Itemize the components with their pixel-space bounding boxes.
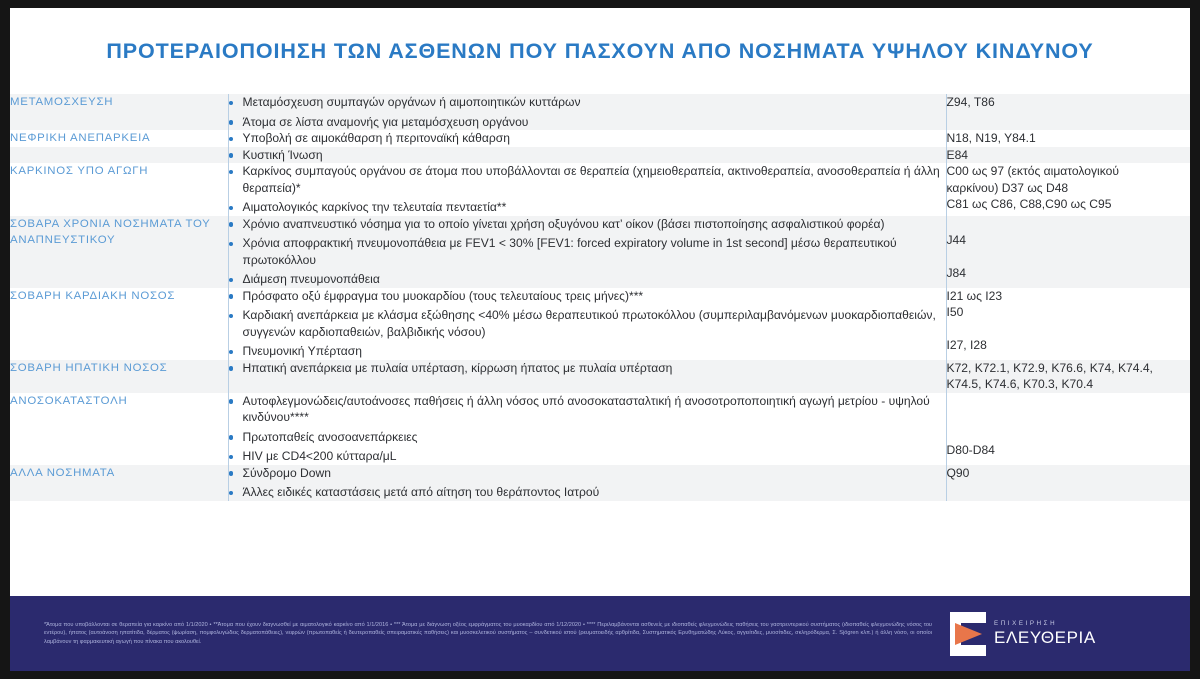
bullet-item: Υποβολή σε αιμοκάθαρση ή περιτοναϊκή κάθ… — [229, 130, 946, 147]
category-cell: ΑΛΛΑ ΝΟΣΗΜΑΤΑ — [10, 465, 228, 501]
bullet-list: Χρόνιο αναπνευστικό νόσημα για το οποίο … — [229, 216, 946, 288]
page-title: ΠΡΟΤΕΡΑΙΟΠΟΙΗΣΗ ΤΩΝ ΑΣΘΕΝΩΝ ΠΟΥ ΠΑΣΧΟΥΝ … — [106, 39, 1093, 64]
category-label: ΣΟΒΑΡΑ ΧΡΟΝΙΑ ΝΟΣΗΜΑΤΑ ΤΟΥ ΑΝΑΠΝΕΥΣΤΙΚΟΥ — [10, 216, 228, 248]
high-risk-disease-table: ΜΕΤΑΜΟΣΧΕΥΣΗΜεταμόσχευση συμπαγών οργάνω… — [10, 94, 1190, 501]
bullet-item: HIV με CD4<200 κύτταρα/μL — [229, 448, 946, 465]
bullet-item: Μεταμόσχευση συμπαγών οργάνων ή αιμοποιη… — [229, 94, 946, 111]
bullet-list: Πρόσφατο οξύ έμφραγμα του μυοκαρδίου (το… — [229, 288, 946, 360]
category-label: ΝΕΦΡΙΚΗ ΑΝΕΠΑΡΚΕΙΑ — [10, 130, 228, 146]
description-cell: Ηπατική ανεπάρκεια με πυλαία υπέρταση, κ… — [228, 360, 946, 393]
icd-code-line — [947, 393, 1191, 410]
category-label: ΑΛΛΑ ΝΟΣΗΜΑΤΑ — [10, 465, 228, 481]
bullet-list: Καρκίνος συμπαγούς οργάνου σε άτομα που … — [229, 163, 946, 216]
icd-code-line: I21 ως I23 — [947, 288, 1191, 305]
table-row: ΣΟΒΑΡΗ ΗΠΑΤΙΚΗ ΝΟΣΟΣΗπατική ανεπάρκεια μ… — [10, 360, 1190, 393]
category-label: ΣΟΒΑΡΗ ΚΑΡΔΙΑΚΗ ΝΟΣΟΣ — [10, 288, 228, 304]
description-cell: Μεταμόσχευση συμπαγών οργάνων ή αιμοποιη… — [228, 94, 946, 130]
footer-bar: *Άτομα που υποβάλλονται σε θεραπεία για … — [10, 596, 1190, 671]
title-bar: ΠΡΟΤΕΡΑΙΟΠΟΙΗΣΗ ΤΩΝ ΑΣΘΕΝΩΝ ΠΟΥ ΠΑΣΧΟΥΝ … — [10, 8, 1190, 94]
icd-code-line: J44 — [947, 232, 1191, 249]
category-cell: ΝΕΦΡΙΚΗ ΑΝΕΠΑΡΚΕΙΑ — [10, 130, 228, 147]
icd-code-line: I27, I28 — [947, 337, 1191, 354]
table-row: ΑΛΛΑ ΝΟΣΗΜΑΤΑΣύνδρομο DownΆλλες ειδικές … — [10, 465, 1190, 501]
footnotes-paragraph: *Άτομα που υποβάλλονται σε θεραπεία για … — [44, 621, 932, 647]
bullet-item: Καρκίνος συμπαγούς οργάνου σε άτομα που … — [229, 163, 946, 196]
icd-code-line: D80-D84 — [947, 442, 1191, 459]
bullet-list: Ηπατική ανεπάρκεια με πυλαία υπέρταση, κ… — [229, 360, 946, 377]
logo: ΕΠΙΧΕΙΡΗΣΗ ΕΛΕΥΘΕΡΙΑ — [950, 612, 1190, 656]
logo-text: ΕΠΙΧΕΙΡΗΣΗ ΕΛΕΥΘΕΡΙΑ — [994, 621, 1096, 645]
bullet-item: Κυστική Ίνωση — [229, 147, 946, 164]
table-row: ΣΟΒΑΡΑ ΧΡΟΝΙΑ ΝΟΣΗΜΑΤΑ ΤΟΥ ΑΝΑΠΝΕΥΣΤΙΚΟΥ… — [10, 216, 1190, 288]
category-cell: ΚΑΡΚΙΝΟΣ ΥΠΟ ΑΓΩΓΗ — [10, 163, 228, 216]
logo-tagline: ΕΠΙΧΕΙΡΗΣΗ — [994, 621, 1096, 627]
category-cell: ΣΟΒΑΡΗ ΚΑΡΔΙΑΚΗ ΝΟΣΟΣ — [10, 288, 228, 360]
icd-code-cell: Q90 — [946, 465, 1190, 501]
icd-code-cell: C00 ως 97 (εκτός αιματολογικούκαρκίνου) … — [946, 163, 1190, 216]
table-body: ΜΕΤΑΜΟΣΧΕΥΣΗΜεταμόσχευση συμπαγών οργάνω… — [10, 94, 1190, 501]
slide-frame: ΠΡΟΤΕΡΑΙΟΠΟΙΗΣΗ ΤΩΝ ΑΣΘΕΝΩΝ ΠΟΥ ΠΑΣΧΟΥΝ … — [0, 0, 1200, 679]
logo-play-arrow-icon — [955, 623, 982, 645]
logo-bottom-bar-shape — [961, 645, 986, 656]
description-cell: Αυτοφλεγμονώδεις/αυτοάνοσες παθήσεις ή ά… — [228, 393, 946, 465]
description-cell: Κυστική Ίνωση — [228, 147, 946, 164]
bullet-item: Άλλες ειδικές καταστάσεις μετά από αίτησ… — [229, 484, 946, 501]
icd-code-line — [947, 409, 1191, 426]
bullet-list: Υποβολή σε αιμοκάθαρση ή περιτοναϊκή κάθ… — [229, 130, 946, 147]
icd-code-cell: Z94, T86 — [946, 94, 1190, 130]
icd-code-line: Q90 — [947, 465, 1191, 482]
table-row: ΜΕΤΑΜΟΣΧΕΥΣΗΜεταμόσχευση συμπαγών οργάνω… — [10, 94, 1190, 130]
category-label: ΣΟΒΑΡΗ ΗΠΑΤΙΚΗ ΝΟΣΟΣ — [10, 360, 228, 376]
logo-brand-name: ΕΛΕΥΘΕΡΙΑ — [994, 629, 1096, 646]
icd-code-line: Z94, T86 — [947, 94, 1191, 111]
bullet-item: Χρόνια αποφρακτική πνευμονοπάθεια με FEV… — [229, 235, 946, 268]
table-row: ΚΑΡΚΙΝΟΣ ΥΠΟ ΑΓΩΓΗΚαρκίνος συμπαγούς οργ… — [10, 163, 1190, 216]
bullet-item: Διάμεση πνευμονοπάθεια — [229, 271, 946, 288]
category-cell: ΑΝΟΣΟΚΑΤΑΣΤΟΛΗ — [10, 393, 228, 465]
category-cell — [10, 147, 228, 164]
icd-code-line — [947, 426, 1191, 443]
icd-code-line — [947, 216, 1191, 233]
icd-code-line: K74.5, K74.6, K70.3, K70.4 — [947, 376, 1191, 393]
description-cell: Σύνδρομο DownΆλλες ειδικές καταστάσεις μ… — [228, 465, 946, 501]
description-cell: Υποβολή σε αιμοκάθαρση ή περιτοναϊκή κάθ… — [228, 130, 946, 147]
bullet-list: Κυστική Ίνωση — [229, 147, 946, 164]
bullet-item: Καρδιακή ανεπάρκεια με κλάσμα εξώθησης <… — [229, 307, 946, 340]
icd-code-cell: N18, N19, Y84.1 — [946, 130, 1190, 147]
logo-top-bar-shape — [961, 612, 986, 623]
icd-code-cell: J44J84 — [946, 216, 1190, 288]
icd-code-line: C00 ως 97 (εκτός αιματολογικού — [947, 163, 1191, 180]
category-label: ΚΑΡΚΙΝΟΣ ΥΠΟ ΑΓΩΓΗ — [10, 163, 228, 179]
icd-code-line: J84 — [947, 265, 1191, 282]
icd-code-cell: D80-D84 — [946, 393, 1190, 465]
category-cell: ΣΟΒΑΡΗ ΗΠΑΤΙΚΗ ΝΟΣΟΣ — [10, 360, 228, 393]
description-cell: Καρκίνος συμπαγούς οργάνου σε άτομα που … — [228, 163, 946, 216]
bullet-list: Αυτοφλεγμονώδεις/αυτοάνοσες παθήσεις ή ά… — [229, 393, 946, 465]
slide-surface: ΠΡΟΤΕΡΑΙΟΠΟΙΗΣΗ ΤΩΝ ΑΣΘΕΝΩΝ ΠΟΥ ΠΑΣΧΟΥΝ … — [10, 8, 1190, 671]
footnotes-text: *Άτομα που υποβάλλονται σε θεραπεία για … — [10, 621, 950, 647]
category-label: ΑΝΟΣΟΚΑΤΑΣΤΟΛΗ — [10, 393, 228, 409]
icd-code-cell: K72, K72.1, K72.9, K76.6, K74, K74.4,K74… — [946, 360, 1190, 393]
bullet-item: Ηπατική ανεπάρκεια με πυλαία υπέρταση, κ… — [229, 360, 946, 377]
icd-code-line: K72, K72.1, K72.9, K76.6, K74, K74.4, — [947, 360, 1191, 377]
bullet-item: Αυτοφλεγμονώδεις/αυτοάνοσες παθήσεις ή ά… — [229, 393, 946, 426]
table-row: ΑΝΟΣΟΚΑΤΑΣΤΟΛΗΑυτοφλεγμονώδεις/αυτοάνοσε… — [10, 393, 1190, 465]
epicheirisi-eleftheria-logo-icon — [950, 612, 986, 656]
category-cell: ΜΕΤΑΜΟΣΧΕΥΣΗ — [10, 94, 228, 130]
bullet-item: Πνευμονική Υπέρταση — [229, 343, 946, 360]
bullet-list: Μεταμόσχευση συμπαγών οργάνων ή αιμοποιη… — [229, 94, 946, 130]
category-cell: ΣΟΒΑΡΑ ΧΡΟΝΙΑ ΝΟΣΗΜΑΤΑ ΤΟΥ ΑΝΑΠΝΕΥΣΤΙΚΟΥ — [10, 216, 228, 288]
bullet-item: Πρόσφατο οξύ έμφραγμα του μυοκαρδίου (το… — [229, 288, 946, 305]
category-label: ΜΕΤΑΜΟΣΧΕΥΣΗ — [10, 94, 228, 110]
description-cell: Πρόσφατο οξύ έμφραγμα του μυοκαρδίου (το… — [228, 288, 946, 360]
bullet-item: Πρωτοπαθείς ανοσοανεπάρκειες — [229, 429, 946, 446]
bullet-list: Σύνδρομο DownΆλλες ειδικές καταστάσεις μ… — [229, 465, 946, 501]
bullet-item: Σύνδρομο Down — [229, 465, 946, 482]
icd-code-cell: I21 ως I23I50I27, I28 — [946, 288, 1190, 360]
description-cell: Χρόνιο αναπνευστικό νόσημα για το οποίο … — [228, 216, 946, 288]
icd-code-line: E84 — [947, 147, 1191, 164]
bullet-item: Άτομα σε λίστα αναμονής για μεταμόσχευση… — [229, 114, 946, 131]
bullet-item: Αιματολογικός καρκίνος την τελευταία πεν… — [229, 199, 946, 216]
icd-code-line: καρκίνου) D37 ως D48 — [947, 180, 1191, 197]
bullet-item: Χρόνιο αναπνευστικό νόσημα για το οποίο … — [229, 216, 946, 233]
icd-code-line: N18, N19, Y84.1 — [947, 130, 1191, 147]
table-row: ΝΕΦΡΙΚΗ ΑΝΕΠΑΡΚΕΙΑΥποβολή σε αιμοκάθαρση… — [10, 130, 1190, 147]
icd-code-line — [947, 249, 1191, 266]
icd-code-line: I50 — [947, 304, 1191, 321]
icd-code-line: C81 ως C86, C88,C90 ως C95 — [947, 196, 1191, 213]
table-row: ΣΟΒΑΡΗ ΚΑΡΔΙΑΚΗ ΝΟΣΟΣΠρόσφατο οξύ έμφραγ… — [10, 288, 1190, 360]
table-row: Κυστική ΊνωσηE84 — [10, 147, 1190, 164]
icd-code-cell: E84 — [946, 147, 1190, 164]
icd-code-line — [947, 321, 1191, 338]
